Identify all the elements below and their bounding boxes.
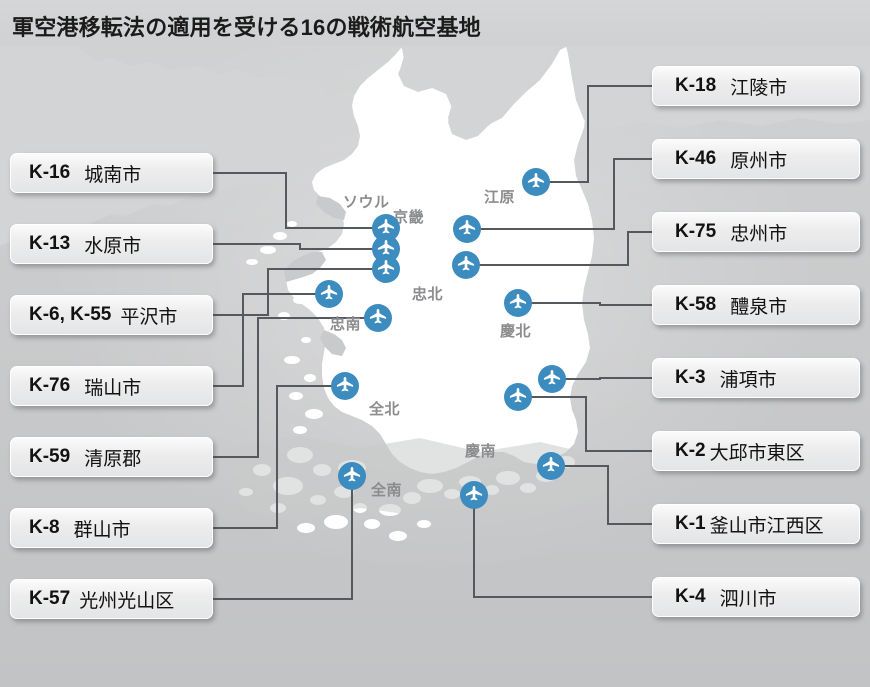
airbase-code: K-16 <box>29 162 70 184</box>
airbase-code: K-57 <box>29 588 70 610</box>
airbase-city: 泗川市 <box>720 584 777 611</box>
airbase-label-k-59[interactable]: K-59清原郡 <box>10 437 213 477</box>
airport-marker-k-2[interactable] <box>504 383 532 411</box>
airbase-label-k-1[interactable]: K-1釜山市江西区 <box>652 504 860 544</box>
airbase-city: 浦項市 <box>720 365 777 392</box>
airbase-label-k-8[interactable]: K-8群山市 <box>10 508 213 548</box>
airbase-label-k-58[interactable]: K-58醴泉市 <box>652 285 860 325</box>
airbase-code: K-58 <box>675 294 716 316</box>
airport-marker-k-4[interactable] <box>460 481 488 509</box>
airport-marker-k-58[interactable] <box>504 289 532 317</box>
airbase-code: K-18 <box>675 75 716 97</box>
airbase-label-k-18[interactable]: K-18江陵市 <box>652 66 860 106</box>
airport-marker-k-76[interactable] <box>315 280 343 308</box>
airbase-city: 清原郡 <box>84 444 141 471</box>
airbase-code: K-13 <box>29 233 70 255</box>
airbase-city: 釜山市江西区 <box>710 511 824 538</box>
airport-marker-k-75[interactable] <box>452 251 480 279</box>
province-label: 全南 <box>371 479 402 500</box>
airport-marker-k-3[interactable] <box>538 365 566 393</box>
airbase-code: K-2 <box>675 440 706 462</box>
airport-marker-k-57[interactable] <box>338 462 366 490</box>
airbase-code: K-4 <box>675 586 706 608</box>
airbase-code: K-46 <box>675 148 716 170</box>
airbase-label-k-4[interactable]: K-4泗川市 <box>652 577 860 617</box>
airbase-city: 光州光山区 <box>79 586 174 613</box>
airbase-city: 平沢市 <box>120 302 177 329</box>
airbase-code: K-8 <box>29 517 60 539</box>
airbase-label-k-6-k-55[interactable]: K-6, K-55平沢市 <box>10 295 213 335</box>
airbase-city: 江陵市 <box>730 73 787 100</box>
airbase-label-k-57[interactable]: K-57光州光山区 <box>10 579 213 619</box>
infographic-canvas: 軍空港移転法の適用を受ける16の戦術航空基地 ソウル京畿江原忠北忠南慶北全北全南… <box>0 0 870 687</box>
airbase-label-k-46[interactable]: K-46原州市 <box>652 139 860 179</box>
airbase-city: 水原市 <box>84 231 141 258</box>
airport-marker-k-59[interactable] <box>364 304 392 332</box>
airbase-city: 群山市 <box>74 515 131 542</box>
airbase-label-k-75[interactable]: K-75忠州市 <box>652 212 860 252</box>
airbase-city: 大邱市東区 <box>710 438 805 465</box>
province-label: 慶南 <box>465 440 496 461</box>
airbase-label-k-2[interactable]: K-2大邱市東区 <box>652 431 860 471</box>
province-label: 忠北 <box>412 283 443 304</box>
province-label: 江原 <box>484 186 515 207</box>
province-label: 全北 <box>369 398 400 419</box>
airport-marker-k-6[interactable] <box>372 255 400 283</box>
province-label: 慶北 <box>500 320 531 341</box>
airbase-label-k-16[interactable]: K-16城南市 <box>10 153 213 193</box>
page-title: 軍空港移転法の適用を受ける16の戦術航空基地 <box>12 10 481 42</box>
airbase-city: 醴泉市 <box>730 292 787 319</box>
airbase-label-k-76[interactable]: K-76瑞山市 <box>10 366 213 406</box>
airport-marker-k-46[interactable] <box>453 215 481 243</box>
airbase-city: 忠州市 <box>730 219 787 246</box>
airbase-code: K-59 <box>29 446 70 468</box>
airbase-code: K-3 <box>675 367 706 389</box>
airport-marker-k-8[interactable] <box>331 372 359 400</box>
airbase-code: K-6, K-55 <box>29 304 111 326</box>
airbase-city: 原州市 <box>730 146 787 173</box>
airbase-label-k-3[interactable]: K-3浦項市 <box>652 358 860 398</box>
province-label: 忠南 <box>330 313 361 334</box>
airbase-code: K-76 <box>29 375 70 397</box>
airbase-code: K-75 <box>675 221 716 243</box>
airport-marker-k-1[interactable] <box>537 452 565 480</box>
airbase-label-k-13[interactable]: K-13水原市 <box>10 224 213 264</box>
airport-marker-k-18[interactable] <box>522 168 550 196</box>
airbase-code: K-1 <box>675 513 706 535</box>
airbase-city: 瑞山市 <box>84 373 141 400</box>
airbase-city: 城南市 <box>84 160 141 187</box>
province-label: ソウル <box>343 191 390 212</box>
